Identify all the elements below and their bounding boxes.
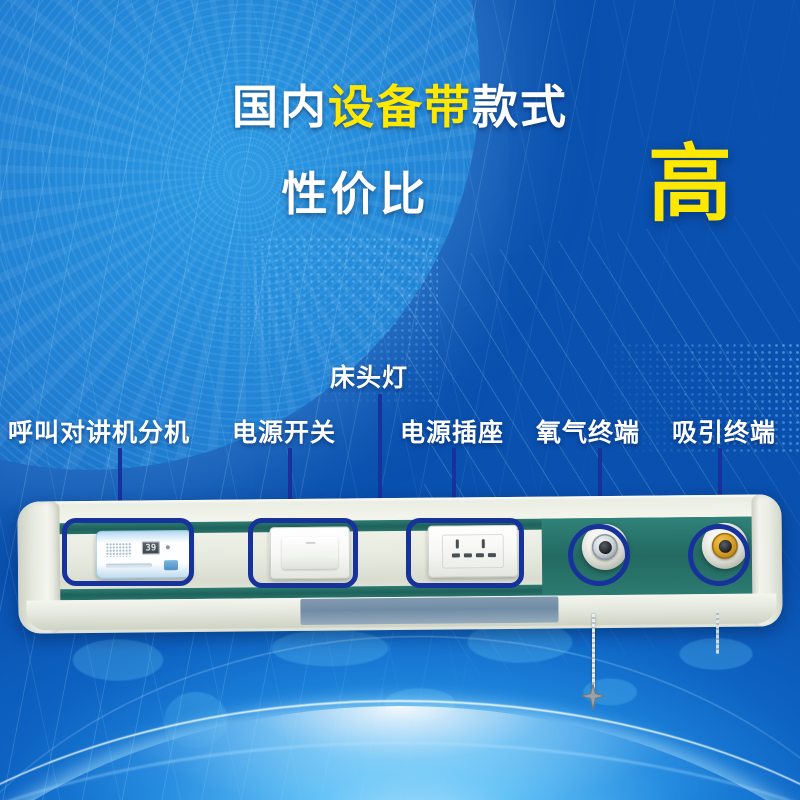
callout-label-power-socket: 电源插座 (400, 413, 504, 449)
headline-line-1: 国内设备带款式 (0, 84, 800, 130)
pull-cord-line (592, 614, 595, 692)
callout-label-bed-lamp: 床头灯 (330, 358, 408, 394)
headline-line-2: 性价比 (282, 158, 429, 224)
callout-label-suction: 吸引终端 (672, 413, 776, 449)
highlight-box-intercom (62, 518, 194, 586)
headline-part-plain-1: 国内 (232, 81, 328, 133)
halftone-dots-middle (196, 252, 316, 372)
callout-label-power-switch: 电源开关 (232, 413, 336, 449)
suction-hose-segment (716, 610, 719, 654)
highlight-circle-suction (688, 524, 750, 586)
pull-cord-handle-icon[interactable] (578, 682, 608, 712)
panel-rail-tint (300, 596, 558, 624)
headline-part-plain-2: 款式 (472, 81, 568, 133)
headline-emphasis-gao: 高 (648, 142, 732, 226)
callout-label-intercom: 呼叫对讲机分机 (8, 413, 190, 449)
highlight-circle-oxygen (568, 524, 630, 586)
headline-part-highlight: 设备带 (328, 81, 472, 133)
callout-label-oxygen: 氧气终端 (536, 413, 640, 449)
highlight-box-power-socket (406, 518, 524, 588)
poster-canvas: 国内设备带款式 性价比 高 呼叫对讲机分机 电源开关 床头灯 电源插座 氧气终端… (0, 0, 800, 800)
headline-block: 国内设备带款式 性价比 高 (0, 84, 800, 234)
highlight-box-power-switch (248, 518, 358, 588)
headline-line-2-row: 性价比 高 (0, 156, 800, 234)
